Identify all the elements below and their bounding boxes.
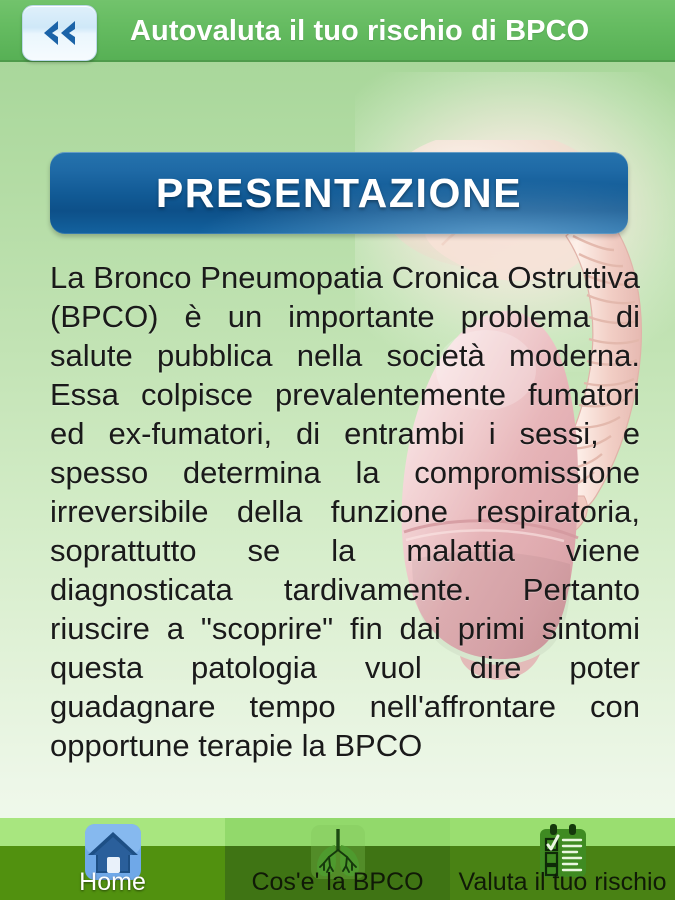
page-title: Autovaluta il tuo rischio di BPCO [130, 0, 589, 62]
title-bar: Autovaluta il tuo rischio di BPCO [0, 0, 675, 62]
tab-cose-la-bpco[interactable]: Cos'e' la BPCO [225, 818, 450, 900]
back-button[interactable] [22, 5, 97, 61]
tab-home-label: Home [0, 868, 225, 897]
body-paragraph: La Bronco Pneumopatia Cronica Ostruttiva… [50, 258, 640, 765]
double-chevron-left-icon [39, 18, 81, 48]
bottom-tab-bar: Home [0, 818, 675, 900]
tab-bpco-label: Cos'e' la BPCO [225, 868, 450, 897]
banner-title: PRESENTAZIONE [156, 170, 522, 217]
tab-valuta-label: Valuta il tuo rischio [450, 868, 675, 897]
section-banner: PRESENTAZIONE [50, 152, 628, 234]
tab-home[interactable]: Home [0, 818, 225, 900]
app-screen: Autovaluta il tuo rischio di BPCO [0, 0, 675, 900]
tab-valuta-il-tuo-rischio[interactable]: Valuta il tuo rischio [450, 818, 675, 900]
article-body: La Bronco Pneumopatia Cronica Ostruttiva… [50, 258, 640, 765]
content-area: PRESENTAZIONE La Bronco Pneumopatia Cron… [0, 62, 675, 900]
